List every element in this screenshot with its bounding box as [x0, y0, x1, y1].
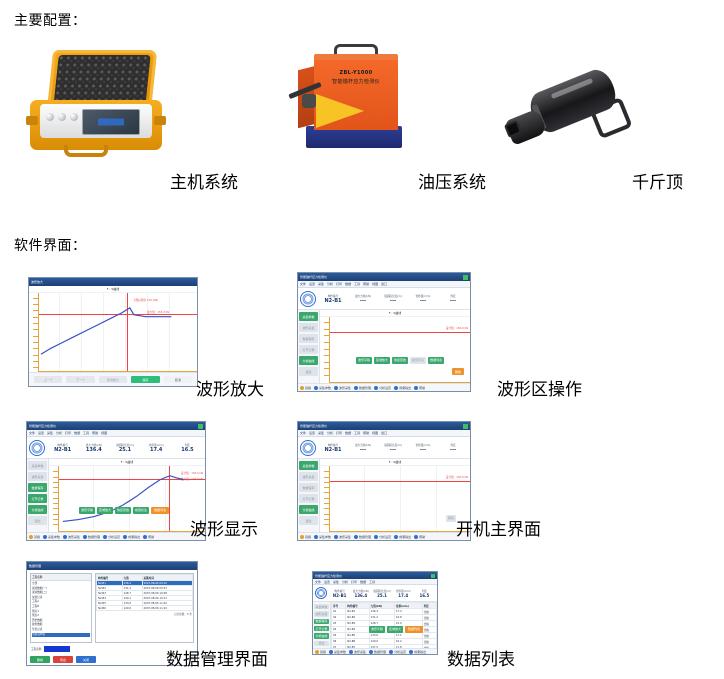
field-anchor-length: 锚固段长度(m) --- — [378, 294, 408, 304]
menu-item-analyze[interactable]: 分析 — [342, 580, 348, 584]
app-logo-icon — [29, 440, 45, 456]
y-axis — [49, 466, 59, 532]
product-caption-host-system: 主机系统 — [170, 168, 238, 193]
window-title-bar: 数据管理 — [27, 562, 197, 570]
overlay-buttons[interactable]: 波形平移 区域放大 数据列表 — [369, 626, 423, 633]
menu-item-settings[interactable]: 设置 — [324, 580, 330, 584]
page-title-software-interface: 软件界面： — [14, 235, 87, 255]
status-analysis-settings[interactable]: 分析设定 — [374, 535, 391, 539]
button-peak-mark[interactable]: 峰值标注 — [410, 357, 426, 364]
sidebar-item-open-record[interactable]: 打开记录 — [28, 494, 47, 503]
app-logo-icon — [315, 587, 327, 599]
field-displacement: 位移量(mm) --- — [408, 294, 438, 304]
fs-curve — [59, 466, 205, 524]
status-waveform-acquire[interactable]: 波形采集 — [63, 535, 80, 539]
button-data-list[interactable]: 数据列表 — [151, 507, 169, 514]
field-max-force: 最大力值(kN) 136.4 — [350, 589, 371, 598]
status-bar[interactable]: 就绪 采集参数 波形采集 数据管理 分析设定 成果输出 — [313, 648, 437, 655]
button-data-list[interactable]: 数据列表 — [405, 626, 423, 633]
menu-item-help[interactable]: 帮助 — [92, 431, 98, 435]
pump-subtitle-text: 智能锚杆应力检测仪 — [318, 78, 394, 85]
menu-item-tools[interactable]: 工具 — [354, 282, 360, 286]
sidebar-item-exit[interactable]: 退出 — [299, 516, 318, 525]
status-ready: 就绪 — [315, 650, 326, 654]
pump-valve-icon — [302, 94, 316, 108]
button-save[interactable]: 保存 — [131, 376, 159, 383]
status-waveform-acquire[interactable]: 波形采集 — [349, 650, 366, 654]
screenshot-waveform-display[interactable]: 智能锚杆应力检测仪 文件 设置 采集 分析 打印 数据 工具 帮助 视图 构件编… — [26, 421, 206, 541]
x-axis — [59, 531, 205, 532]
x-axis — [330, 531, 470, 532]
window-controls[interactable] — [463, 275, 468, 280]
menu-item-print[interactable]: 打印 — [336, 431, 342, 435]
status-output[interactable]: 成果输出 — [123, 535, 140, 539]
menu-bar[interactable]: 文件 设置 采集 分析 打印 数据 工具 帮助 视图 — [27, 430, 205, 437]
button-close[interactable]: 关闭 — [76, 656, 96, 663]
sidebar-item-waveform-acquire[interactable]: 波形采集 — [299, 323, 318, 332]
reference-label-design: 设计值：150.0 kN — [446, 326, 468, 330]
y-axis — [320, 466, 330, 532]
status-analysis-settings[interactable]: 分析设定 — [389, 650, 406, 654]
sidebar-item-data-save[interactable]: 数据保存 — [28, 483, 47, 492]
product-photo-jack — [508, 58, 638, 168]
sidebar-item-acquire-params[interactable]: 采集参数 — [299, 461, 318, 470]
status-help[interactable]: 帮助 — [414, 535, 425, 539]
menu-item-window[interactable]: 窗口 — [381, 282, 387, 286]
button-zoom-region[interactable]: 区域放大 — [374, 357, 390, 364]
y-axis — [320, 317, 330, 383]
window-title-text: 智能锚杆应力检测仪 — [315, 574, 342, 578]
window-title-bar: 智能锚杆应力检测仪 — [27, 422, 205, 430]
plot-title: F - S曲线 — [29, 286, 197, 293]
button-export[interactable]: 导出 — [53, 656, 73, 663]
menu-item-file[interactable]: 文件 — [300, 282, 306, 286]
caption-waveform-zoom: 波形放大 — [196, 375, 264, 400]
window-title-text: 智能锚杆应力检测仪 — [300, 275, 327, 279]
menu-item-tools[interactable]: 工具 — [354, 431, 360, 435]
window-controls[interactable] — [198, 424, 203, 429]
status-bar[interactable]: 就绪 采集参数 波形采集 数据管理 分析设定 成果输出 帮助 — [298, 383, 470, 391]
product-caption-jack: 千斤顶 — [632, 168, 683, 193]
field-group: 构件编号 N2-B1 最大力值(kN) 136.4 锚固段长度(m) 25.1 … — [329, 589, 435, 598]
sidebar[interactable]: 采集参数 波形采集 数据保存 打开记录 分析曲线 退出 — [298, 310, 320, 383]
menu-item-acquire[interactable]: 采集 — [333, 580, 339, 584]
plot-canvas[interactable]: 设计值：150.0 kN 最大值：136.4 kN 波形平移 区域放大 恢复原始… — [49, 466, 205, 532]
menu-item-acquire[interactable]: 采集 — [47, 431, 53, 435]
field-anchor-length: 锚固段长度(m) --- — [378, 443, 408, 453]
screenshot-waveform-zoom[interactable]: 波形放大 F - S曲线 下限标准值 150 (kN) 最大值：153.3 kN… — [28, 277, 198, 387]
status-ready: 就绪 — [29, 535, 40, 539]
fs-curve — [39, 293, 197, 362]
pump-brand-text: 智博联 — [409, 128, 424, 135]
color-swatch[interactable] — [44, 646, 70, 652]
sidebar-item-open-record[interactable]: 打开记录 — [314, 626, 329, 631]
status-waveform-acquire[interactable]: 波形采集 — [334, 535, 351, 539]
sidebar-item-analyze-curve[interactable]: 分析曲线 — [299, 356, 318, 365]
pump-model-text: ZBL-Y1000 — [318, 70, 394, 76]
y-axis — [29, 293, 39, 372]
sidebar-item-exit[interactable]: 退出 — [28, 516, 47, 525]
window-title-text: 智能锚杆应力检测仪 — [300, 424, 327, 428]
window-title-text: 波形放大 — [31, 280, 43, 284]
button-restore-original[interactable]: 恢复原始 — [392, 357, 408, 364]
menu-item-settings[interactable]: 设置 — [309, 431, 315, 435]
screenshot-startup-main[interactable]: 智能锚杆应力检测仪 文件 设置 采集 分析 打印 数据 工具 帮助 视图 窗口 … — [297, 421, 471, 541]
caption-startup-main: 开机主界面 — [456, 515, 541, 540]
tree-item-list[interactable]: 全部 试验数据(一) 试验数据(二) 试验记录 工程A 工程B 测点1 测点2 … — [31, 581, 91, 638]
button-restore-original[interactable]: 恢复原始 — [115, 507, 131, 514]
info-bar: 构件编号 N2-B1 最大力值(kN) --- 锚固段长度(m) --- 位移量… — [298, 437, 470, 459]
status-output[interactable]: 成果输出 — [394, 535, 411, 539]
status-ready: 就绪 — [300, 535, 311, 539]
sidebar-item-acquire-params[interactable]: 采集参数 — [28, 461, 47, 470]
window-title-bar: 智能锚杆应力检测仪 — [298, 273, 470, 281]
window-controls[interactable] — [463, 424, 468, 429]
menu-item-view[interactable]: 视图 — [372, 431, 378, 435]
status-data-management[interactable]: 数据管理 — [369, 650, 386, 654]
menu-item-file[interactable]: 文件 — [300, 431, 306, 435]
sidebar-item-open-record[interactable]: 打开记录 — [299, 494, 318, 503]
sidebar-item-data-save[interactable]: 数据保存 — [299, 483, 318, 492]
status-acquire-params[interactable]: 采集参数 — [43, 535, 60, 539]
records-table[interactable]: 构件编号 力值 采集时间 N2-B1 136.4 2007-08-06 09:1… — [95, 573, 194, 643]
menu-item-data[interactable]: 数据 — [345, 431, 351, 435]
menu-item-view[interactable]: 视图 — [101, 431, 107, 435]
menu-item-analyze[interactable]: 分析 — [327, 282, 333, 286]
menu-item-data[interactable]: 数据 — [345, 282, 351, 286]
sidebar-item-waveform-acquire[interactable]: 波形采集 — [299, 472, 318, 481]
window-title-bar: 智能锚杆应力检测仪 — [313, 572, 437, 579]
field-max-force: 最大力值(kN) --- — [348, 294, 378, 304]
field-verdict: 判定 --- — [438, 443, 468, 453]
table-row[interactable]: 07 N2-B7 137.5 17.8 合格 — [332, 645, 437, 649]
status-help[interactable]: 帮助 — [414, 386, 425, 390]
menu-item-file[interactable]: 文件 — [29, 431, 35, 435]
sidebar[interactable]: 采集参数 波形采集 数据保存 打开记录 分析曲线 退出 — [313, 602, 331, 648]
reference-line-design — [330, 332, 470, 333]
menu-bar[interactable]: 文件 设置 采集 分析 打印 数据 工具 帮助 视图 窗口 — [298, 281, 470, 288]
button-reset-zoom[interactable]: 取消放大 — [99, 376, 127, 383]
plot-canvas[interactable]: 下限标准值 150 (kN) 最大值：153.3 kN — [29, 293, 197, 372]
field-component-id: 构件编号 N2-B1 — [329, 589, 350, 598]
record-count-label: 记录总数：6 条 — [96, 611, 193, 617]
button-delete[interactable]: 删除 — [452, 368, 464, 375]
x-axis — [39, 371, 197, 372]
product-caption-hydraulic-system: 油压系统 — [418, 168, 486, 193]
product-photo-host-system — [22, 48, 172, 158]
sidebar-item-analyze-curve[interactable]: 分析曲线 — [299, 505, 318, 514]
window-title-bar: 智能锚杆应力检测仪 — [298, 422, 470, 430]
field-component-id: 构件编号 N2-B1 — [318, 294, 348, 304]
app-logo-icon — [300, 440, 316, 456]
plot-title: F - S曲线 — [49, 459, 205, 466]
reference-line-design — [330, 481, 470, 482]
sidebar-item-open-record[interactable]: 打开记录 — [299, 345, 318, 354]
instrument-case-body-icon — [30, 100, 162, 150]
field-group: 构件编号 N2-B1 最大力值(kN) 136.4 锚固段长度(m) 25.1 … — [47, 443, 203, 453]
plot-canvas[interactable]: 设计值：150.0 kN 波形平移 区域放大 恢复原始 峰值标注 数据列表 删除 — [320, 317, 470, 383]
status-acquire-params[interactable]: 采集参数 — [329, 650, 346, 654]
menu-item-acquire[interactable]: 采集 — [318, 282, 324, 286]
button-next[interactable]: 下一个 — [66, 376, 94, 383]
plot-area[interactable]: F - S曲线 设计值：150.0 kN 波形平移 区域放大 恢复原始 峰值标注… — [320, 310, 470, 383]
plot-canvas[interactable]: 设计值：150.0 kN 删除 — [320, 466, 470, 532]
info-bar: 构件编号 N2-B1 最大力值(kN) --- 锚固段长度(m) --- 位移量… — [298, 288, 470, 310]
plot-action-buttons[interactable]: 波形平移 区域放大 恢复原始 峰值标注 数据列表 — [356, 357, 444, 364]
menu-item-tools[interactable]: 工具 — [369, 580, 375, 584]
case-screen — [82, 109, 140, 135]
menu-item-help[interactable]: 帮助 — [363, 282, 369, 286]
button-prev[interactable]: 上一个 — [34, 376, 62, 383]
window-title-text: 智能锚杆应力检测仪 — [29, 424, 56, 428]
status-waveform-acquire[interactable]: 波形采集 — [334, 386, 351, 390]
menu-item-help[interactable]: 帮助 — [363, 431, 369, 435]
button-cancel[interactable]: 取消 — [164, 376, 192, 383]
window-title-bar: 波形放大 — [29, 278, 197, 286]
button-pan-waveform[interactable]: 波形平移 — [356, 357, 372, 364]
menu-item-acquire[interactable]: 采集 — [318, 431, 324, 435]
sidebar-item-acquire-params[interactable]: 采集参数 — [314, 604, 329, 609]
plot-title: F - S曲线 — [320, 459, 470, 466]
data-table-area[interactable]: 序号 构件编号 力值(kN) 位移(mm) 判定 01 N2-B1 136.4 … — [331, 602, 437, 648]
menu-item-print[interactable]: 打印 — [336, 282, 342, 286]
field-anchor-length: 锚固段长度(m) 25.1 — [371, 589, 392, 598]
menu-item-data[interactable]: 数据 — [360, 580, 366, 584]
field-max-force: 最大力值(kN) 136.4 — [78, 443, 109, 453]
sidebar[interactable]: 采集参数 波形采集 数据保存 打开记录 分析曲线 退出 — [27, 459, 49, 532]
menu-item-analyze[interactable]: 分析 — [327, 431, 333, 435]
menu-item-tools[interactable]: 工具 — [83, 431, 89, 435]
caption-data-management: 数据管理界面 — [166, 645, 268, 670]
menu-item-analyze[interactable]: 分析 — [56, 431, 62, 435]
pump-arrow-graphic — [316, 94, 364, 128]
button-zoom-region[interactable]: 区域放大 — [97, 507, 113, 514]
button-zoom-region[interactable]: 区域放大 — [387, 626, 403, 633]
sidebar-item-acquire-params[interactable]: 采集参数 — [299, 312, 318, 321]
status-bar[interactable]: 就绪 采集参数 波形采集 数据管理 分析设定 成果输出 帮助 — [298, 532, 470, 540]
field-displacement: 位移量(mm) 17.4 — [393, 589, 414, 598]
field-displacement: 位移量(mm) --- — [408, 443, 438, 453]
window-controls[interactable] — [431, 574, 435, 578]
sidebar-item-data-save[interactable]: 数据保存 — [314, 619, 329, 624]
button-pan-waveform[interactable]: 波形平移 — [79, 507, 95, 514]
menu-item-file[interactable]: 文件 — [315, 580, 321, 584]
screenshot-data-list[interactable]: 智能锚杆应力检测仪 文件 设置 采集 分析 打印 数据 工具 构件编号 N2-B… — [312, 571, 438, 655]
field-component-id: 构件编号 N2-B1 — [318, 443, 348, 453]
menu-bar[interactable]: 文件 设置 采集 分析 打印 数据 工具 帮助 视图 窗口 — [298, 430, 470, 437]
button-peak-mark[interactable]: 峰值标注 — [133, 507, 149, 514]
status-acquire-params[interactable]: 采集参数 — [314, 386, 331, 390]
table-row[interactable]: N2-B6 129.0 2007-08-06 11:24 — [97, 606, 193, 611]
plot-title: F - S曲线 — [320, 310, 470, 317]
button-pan-waveform[interactable]: 波形平移 — [369, 626, 385, 633]
field-label: 工程名称 — [31, 647, 41, 651]
status-help[interactable]: 帮助 — [143, 535, 154, 539]
button-delete[interactable]: 删除 — [446, 515, 456, 522]
plot-action-buttons[interactable]: 波形平移 区域放大 恢复原始 峰值标注 数据列表 — [79, 507, 169, 514]
table: 构件编号 力值 采集时间 N2-B1 136.4 2007-08-06 09:1… — [96, 574, 193, 611]
menu-item-view[interactable]: 视图 — [372, 282, 378, 286]
status-ready: 就绪 — [300, 386, 311, 390]
tree-header: 工程名称 — [31, 574, 91, 581]
menu-item-print[interactable]: 打印 — [351, 580, 357, 584]
sidebar[interactable]: 采集参数 波形采集 数据保存 打开记录 分析曲线 退出 — [298, 459, 320, 532]
menu-item-print[interactable]: 打印 — [65, 431, 71, 435]
field-group: 构件编号 N2-B1 最大力值(kN) --- 锚固段长度(m) --- 位移量… — [318, 443, 468, 453]
status-output[interactable]: 成果输出 — [394, 386, 411, 390]
info-bar: 构件编号 N2-B1 最大力值(kN) 136.4 锚固段长度(m) 25.1 … — [313, 585, 437, 602]
sidebar-item-analyze-curve[interactable]: 分析曲线 — [28, 505, 47, 514]
field-max-force: 最大力值(kN) --- — [348, 443, 378, 453]
product-photo-hydraulic-system: ZBL-Y1000 智能锚杆应力检测仪 智博联 — [288, 42, 428, 157]
sidebar-item-analyze-curve[interactable]: 分析曲线 — [314, 633, 329, 638]
project-tree[interactable]: 工程名称 全部 试验数据(一) 试验数据(二) 试验记录 工程A 工程B 测点1… — [30, 573, 92, 643]
sidebar-item-exit[interactable]: 退出 — [314, 641, 329, 646]
status-data-management[interactable]: 数据管理 — [83, 535, 100, 539]
reference-label-design: 设计值：150.0 kN — [446, 475, 468, 479]
info-bar: 构件编号 N2-B1 最大力值(kN) 136.4 锚固段长度(m) 25.1 … — [27, 437, 205, 459]
window-title-text: 数据管理 — [29, 564, 41, 568]
status-analysis-settings[interactable]: 分析设定 — [103, 535, 120, 539]
status-output[interactable]: 成果输出 — [409, 650, 426, 654]
status-data-management[interactable]: 数据管理 — [354, 386, 371, 390]
app-logo-icon — [300, 291, 316, 307]
sidebar-item-waveform-acquire[interactable]: 波形采集 — [314, 611, 329, 616]
plot-area[interactable]: F - S曲线 设计值：150.0 kN 删除 — [320, 459, 470, 532]
button-data-list[interactable]: 数据列表 — [428, 357, 444, 364]
menu-item-settings[interactable]: 设置 — [38, 431, 44, 435]
status-analysis-settings[interactable]: 分析设定 — [374, 386, 391, 390]
field-anchor-length: 锚固段长度(m) 25.1 — [109, 443, 140, 453]
status-acquire-params[interactable]: 采集参数 — [314, 535, 331, 539]
field-group: 构件编号 N2-B1 最大力值(kN) --- 锚固段长度(m) --- 位移量… — [318, 294, 468, 304]
menu-item-settings[interactable]: 设置 — [309, 282, 315, 286]
sidebar-item-waveform-acquire[interactable]: 波形采集 — [28, 472, 47, 481]
status-data-management[interactable]: 数据管理 — [354, 535, 371, 539]
menu-item-window[interactable]: 窗口 — [381, 431, 387, 435]
tree-item-selected[interactable]: 当前选中项 — [32, 633, 90, 638]
field-verdict: 判定 16.5 — [414, 589, 435, 598]
x-axis — [330, 382, 470, 383]
field-component-id: 构件编号 N2-B1 — [47, 443, 78, 453]
screenshot-waveform-area-operation[interactable]: 智能锚杆应力检测仪 文件 设置 采集 分析 打印 数据 工具 帮助 视图 窗口 … — [297, 272, 471, 392]
caption-waveform-display: 波形显示 — [190, 515, 258, 540]
caption-data-list: 数据列表 — [447, 645, 515, 670]
sidebar-item-exit[interactable]: 退出 — [299, 367, 318, 376]
field-verdict: 判定 16.5 — [172, 443, 203, 453]
plot-area[interactable]: F - S曲线 设计值：150.0 kN 最大值：136.4 kN — [49, 459, 205, 532]
case-control-panel — [40, 104, 152, 138]
menu-item-data[interactable]: 数据 — [74, 431, 80, 435]
button-delete[interactable]: 删除 — [30, 656, 50, 663]
field-verdict: 判定 --- — [438, 294, 468, 304]
field-displacement: 位移量(mm) 17.4 — [141, 443, 172, 453]
page-title-main-configuration: 主要配置： — [14, 10, 87, 30]
status-bar[interactable]: 就绪 采集参数 波形采集 数据管理 分析设定 成果输出 帮助 — [27, 532, 205, 540]
caption-waveform-area-operation: 波形区操作 — [497, 375, 582, 400]
sidebar-item-data-save[interactable]: 数据保存 — [299, 334, 318, 343]
